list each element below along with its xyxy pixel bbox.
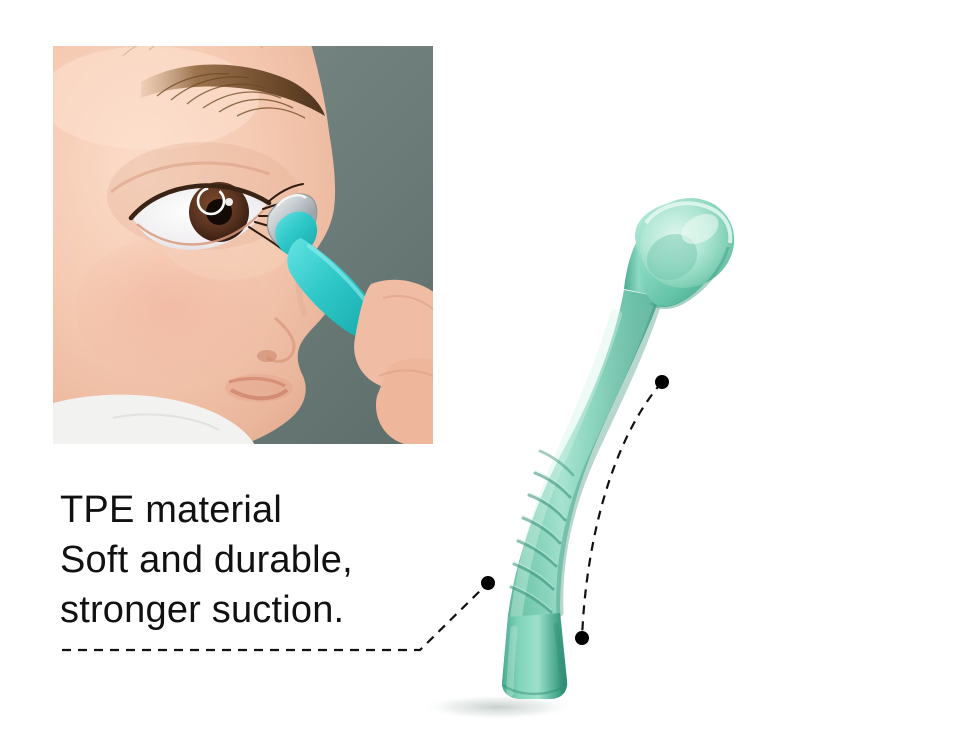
product-feature-slide: TPE material Soft and durable, stronger … [0, 0, 953, 755]
photo-panel [53, 46, 433, 444]
suction-tool-illustration [410, 185, 740, 735]
child-photo [53, 46, 433, 444]
product-image [410, 185, 740, 735]
